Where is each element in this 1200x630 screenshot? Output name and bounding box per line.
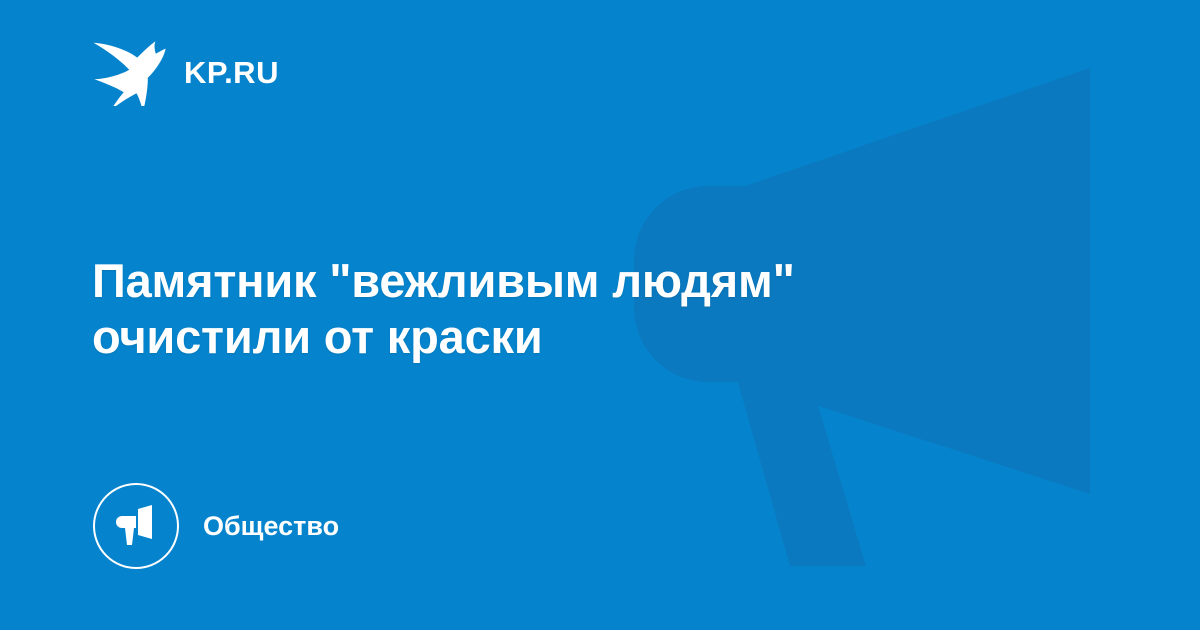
rubric-icon-circle xyxy=(93,483,179,569)
brand-header[interactable]: KP.RU xyxy=(92,38,279,106)
headline-line-1: Памятник "вежливым людям" xyxy=(92,253,992,309)
headline: Памятник "вежливым людям" очистили от кр… xyxy=(92,253,992,365)
rubric-badge[interactable]: Общество xyxy=(93,483,339,569)
swallow-bird-logo-icon xyxy=(92,38,166,106)
megaphone-icon xyxy=(114,504,158,548)
social-share-card: KP.RU Памятник "вежливым людям" очистили… xyxy=(0,0,1200,630)
headline-line-2: очистили от краски xyxy=(92,309,992,365)
rubric-label: Общество xyxy=(203,513,339,540)
brand-name: KP.RU xyxy=(184,57,279,88)
